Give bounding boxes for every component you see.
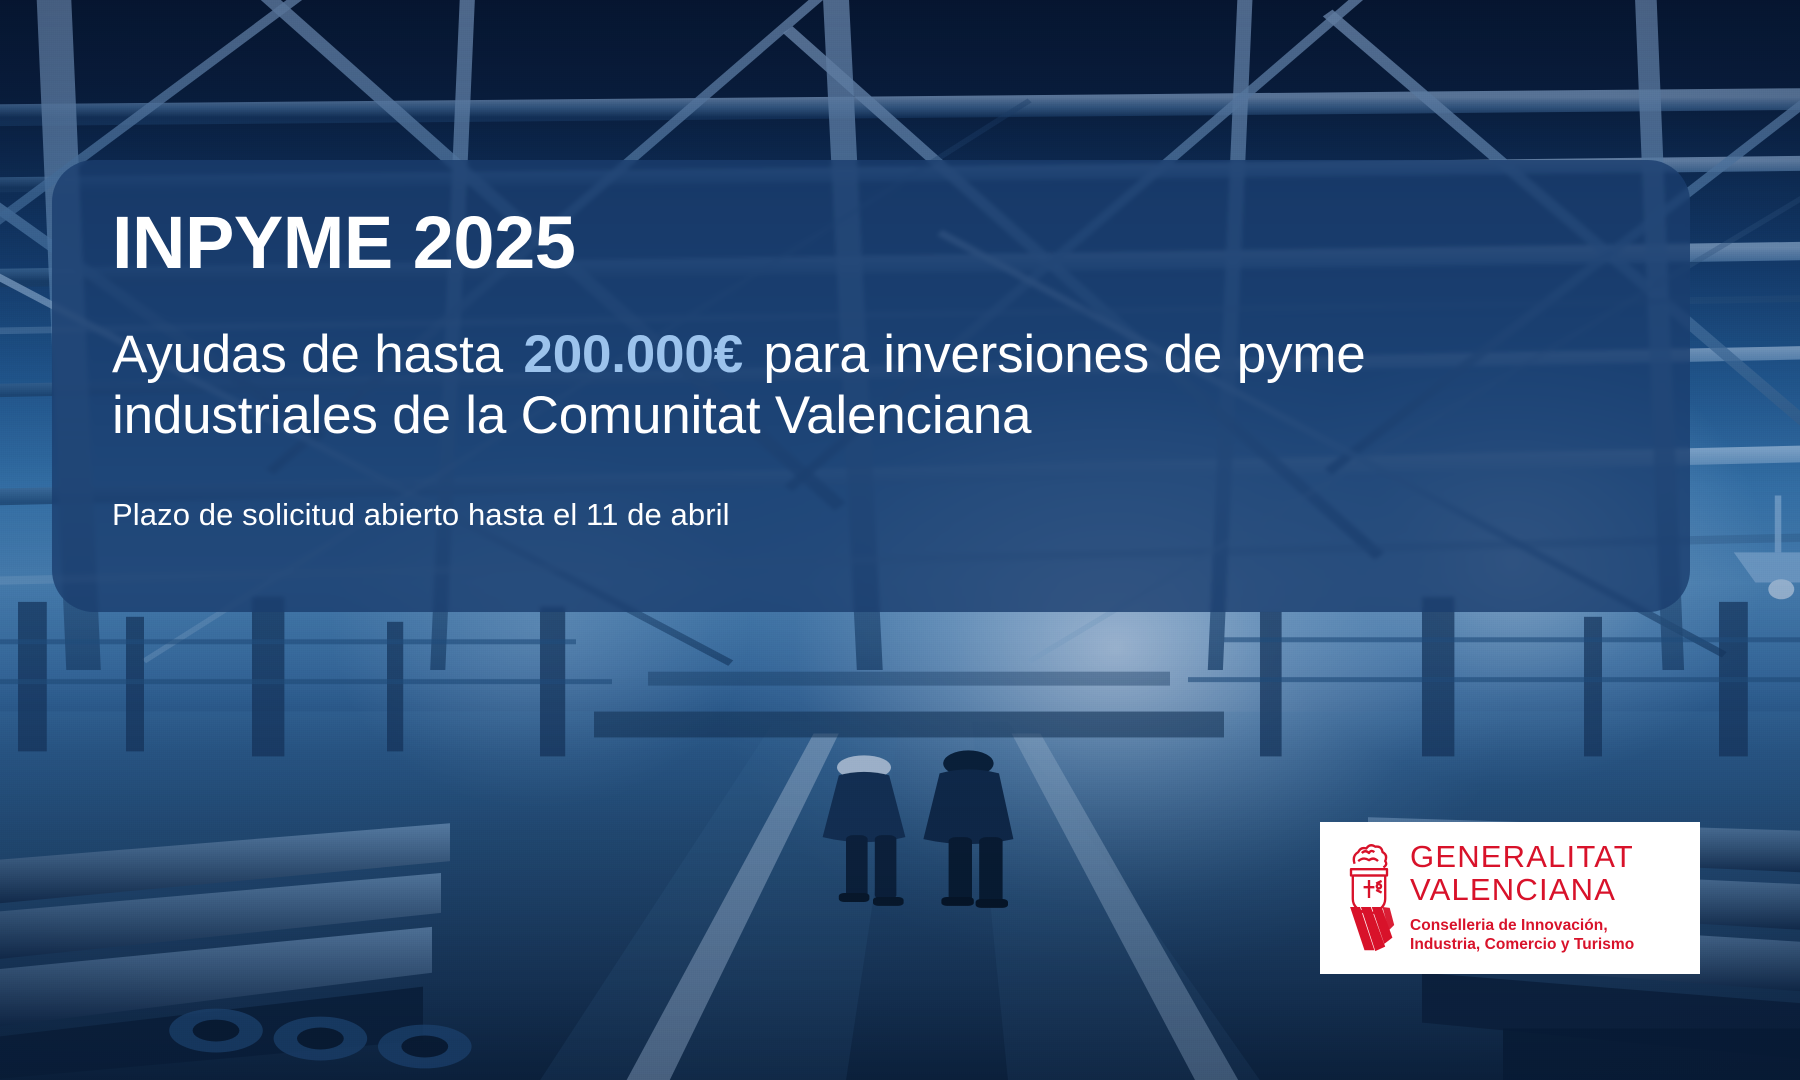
logo-line-valenciana: VALENCIANA: [1410, 874, 1634, 907]
valencia-crest-icon: [1342, 842, 1396, 954]
inpyme-banner: INPYME 2025 Ayudas de hasta 200.000€ par…: [0, 0, 1800, 1080]
subtitle: Ayudas de hasta 200.000€ para inversione…: [112, 324, 1442, 447]
deadline-note: Plazo de solicitud abierto hasta el 11 d…: [112, 497, 1630, 533]
logo-text-block: GENERALITAT VALENCIANA Conselleria de In…: [1410, 841, 1634, 955]
subtitle-before: Ayudas de hasta: [112, 325, 503, 384]
logo-conselleria-line2: Industria, Comercio y Turismo: [1410, 935, 1634, 955]
content-card: INPYME 2025 Ayudas de hasta 200.000€ par…: [52, 160, 1690, 612]
grant-amount: 200.000€: [517, 325, 748, 384]
page-title: INPYME 2025: [112, 206, 1630, 280]
generalitat-valenciana-logo: GENERALITAT VALENCIANA Conselleria de In…: [1320, 822, 1700, 974]
logo-line-generalitat: GENERALITAT: [1410, 841, 1634, 874]
logo-conselleria-line1: Conselleria de Innovación,: [1410, 916, 1634, 936]
